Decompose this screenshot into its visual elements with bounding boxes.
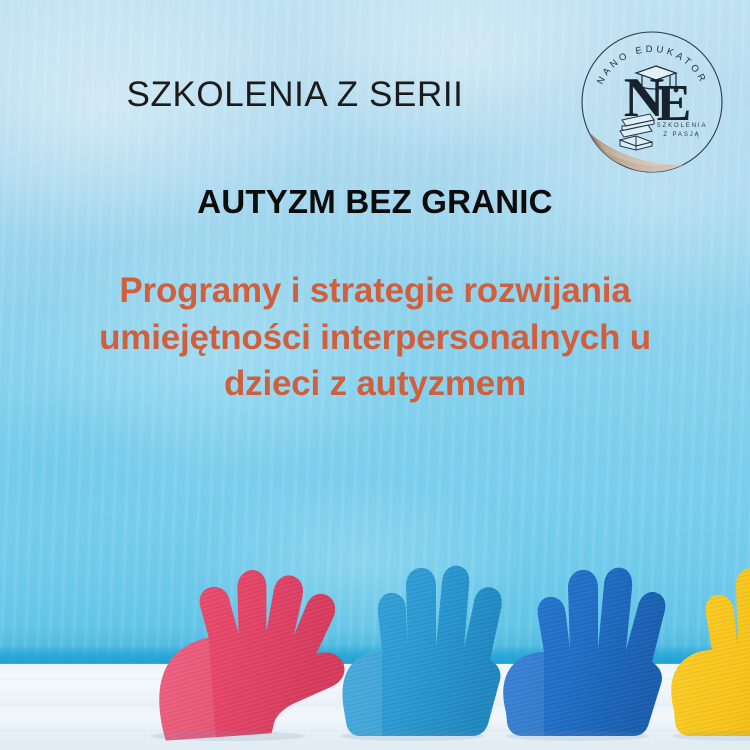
logo-tagline-line-2: Z PASJĄ (663, 132, 700, 138)
logo-mark: NANO EDUKATOR N E (578, 28, 726, 176)
nano-edukator-logo: NANO EDUKATOR N E (578, 28, 726, 176)
headline-main-line-1: Programy i strategie rozwijania (40, 268, 710, 315)
hand-shadow (150, 731, 306, 741)
wooden-hands-group (0, 560, 750, 750)
headline-main-line-3: dzieci z autyzmem (40, 361, 710, 408)
training-poster: SZKOLENIA Z SERII AUTYZM BEZ GRANIC Prog… (0, 0, 750, 750)
hand-shadow (340, 731, 484, 741)
hands-illustration (0, 560, 750, 750)
headline-series-title: AUTYZM BEZ GRANIC (0, 184, 750, 220)
hand-red (150, 564, 348, 741)
headline-main-line-2: umiejętności interpersonalnych u (40, 315, 710, 362)
hand-yellow (671, 566, 750, 736)
hand-shadow (506, 731, 650, 741)
logo-tagline-line-1: SZKOLENIA (657, 123, 708, 129)
hand-blue (503, 568, 665, 736)
headline-main-title: Programy i strategie rozwijania umiejętn… (40, 268, 710, 408)
hand-light-blue (343, 566, 502, 736)
